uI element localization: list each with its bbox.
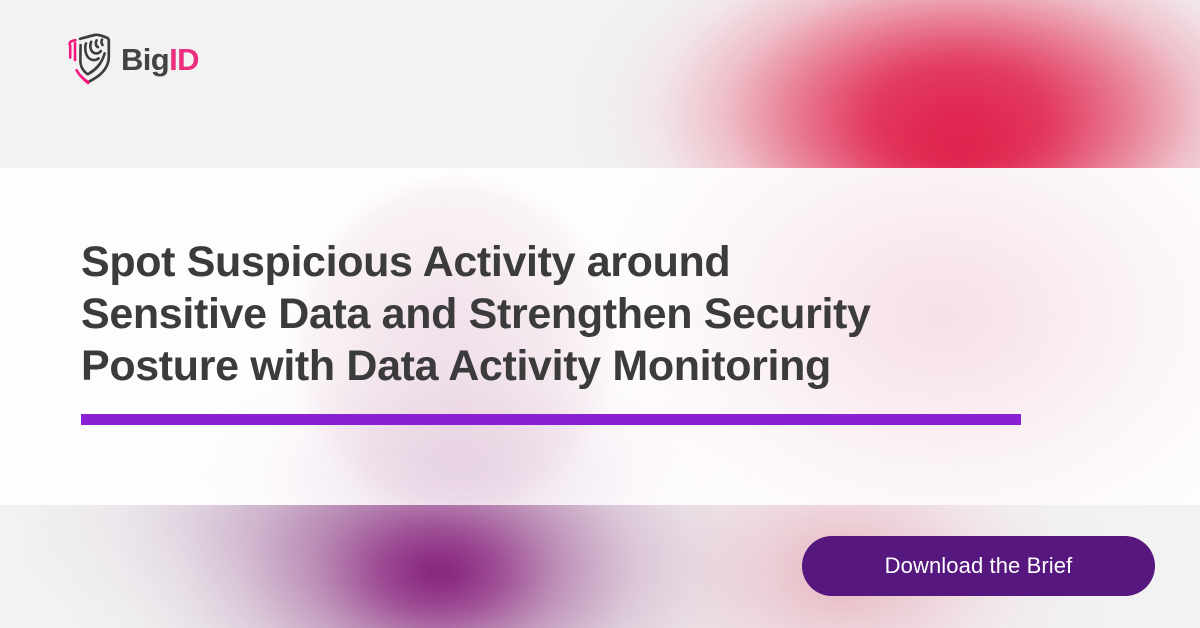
wordmark-big: Big [121,42,169,77]
download-the-brief-button[interactable]: Download the Brief [802,536,1155,596]
wordmark-id: ID [169,42,199,77]
purple-divider-bar [81,414,1021,425]
purple-haze-bleed [180,385,740,505]
bigid-logo[interactable]: BigID [66,33,199,85]
bigid-fingerprint-shield-icon [66,33,112,85]
headline-line-3: Posture with Data Activity Monitoring [81,340,1041,392]
bigid-wordmark: BigID [121,44,199,75]
social-share-card: BigID Spot Suspicious Activity around Se… [0,0,1200,628]
red-gradient-blob-core [770,10,1150,168]
page-title: Spot Suspicious Activity around Sensitiv… [81,236,1041,392]
headline-line-1: Spot Suspicious Activity around [81,236,1041,288]
headline-line-2: Sensitive Data and Strengthen Security [81,288,1041,340]
